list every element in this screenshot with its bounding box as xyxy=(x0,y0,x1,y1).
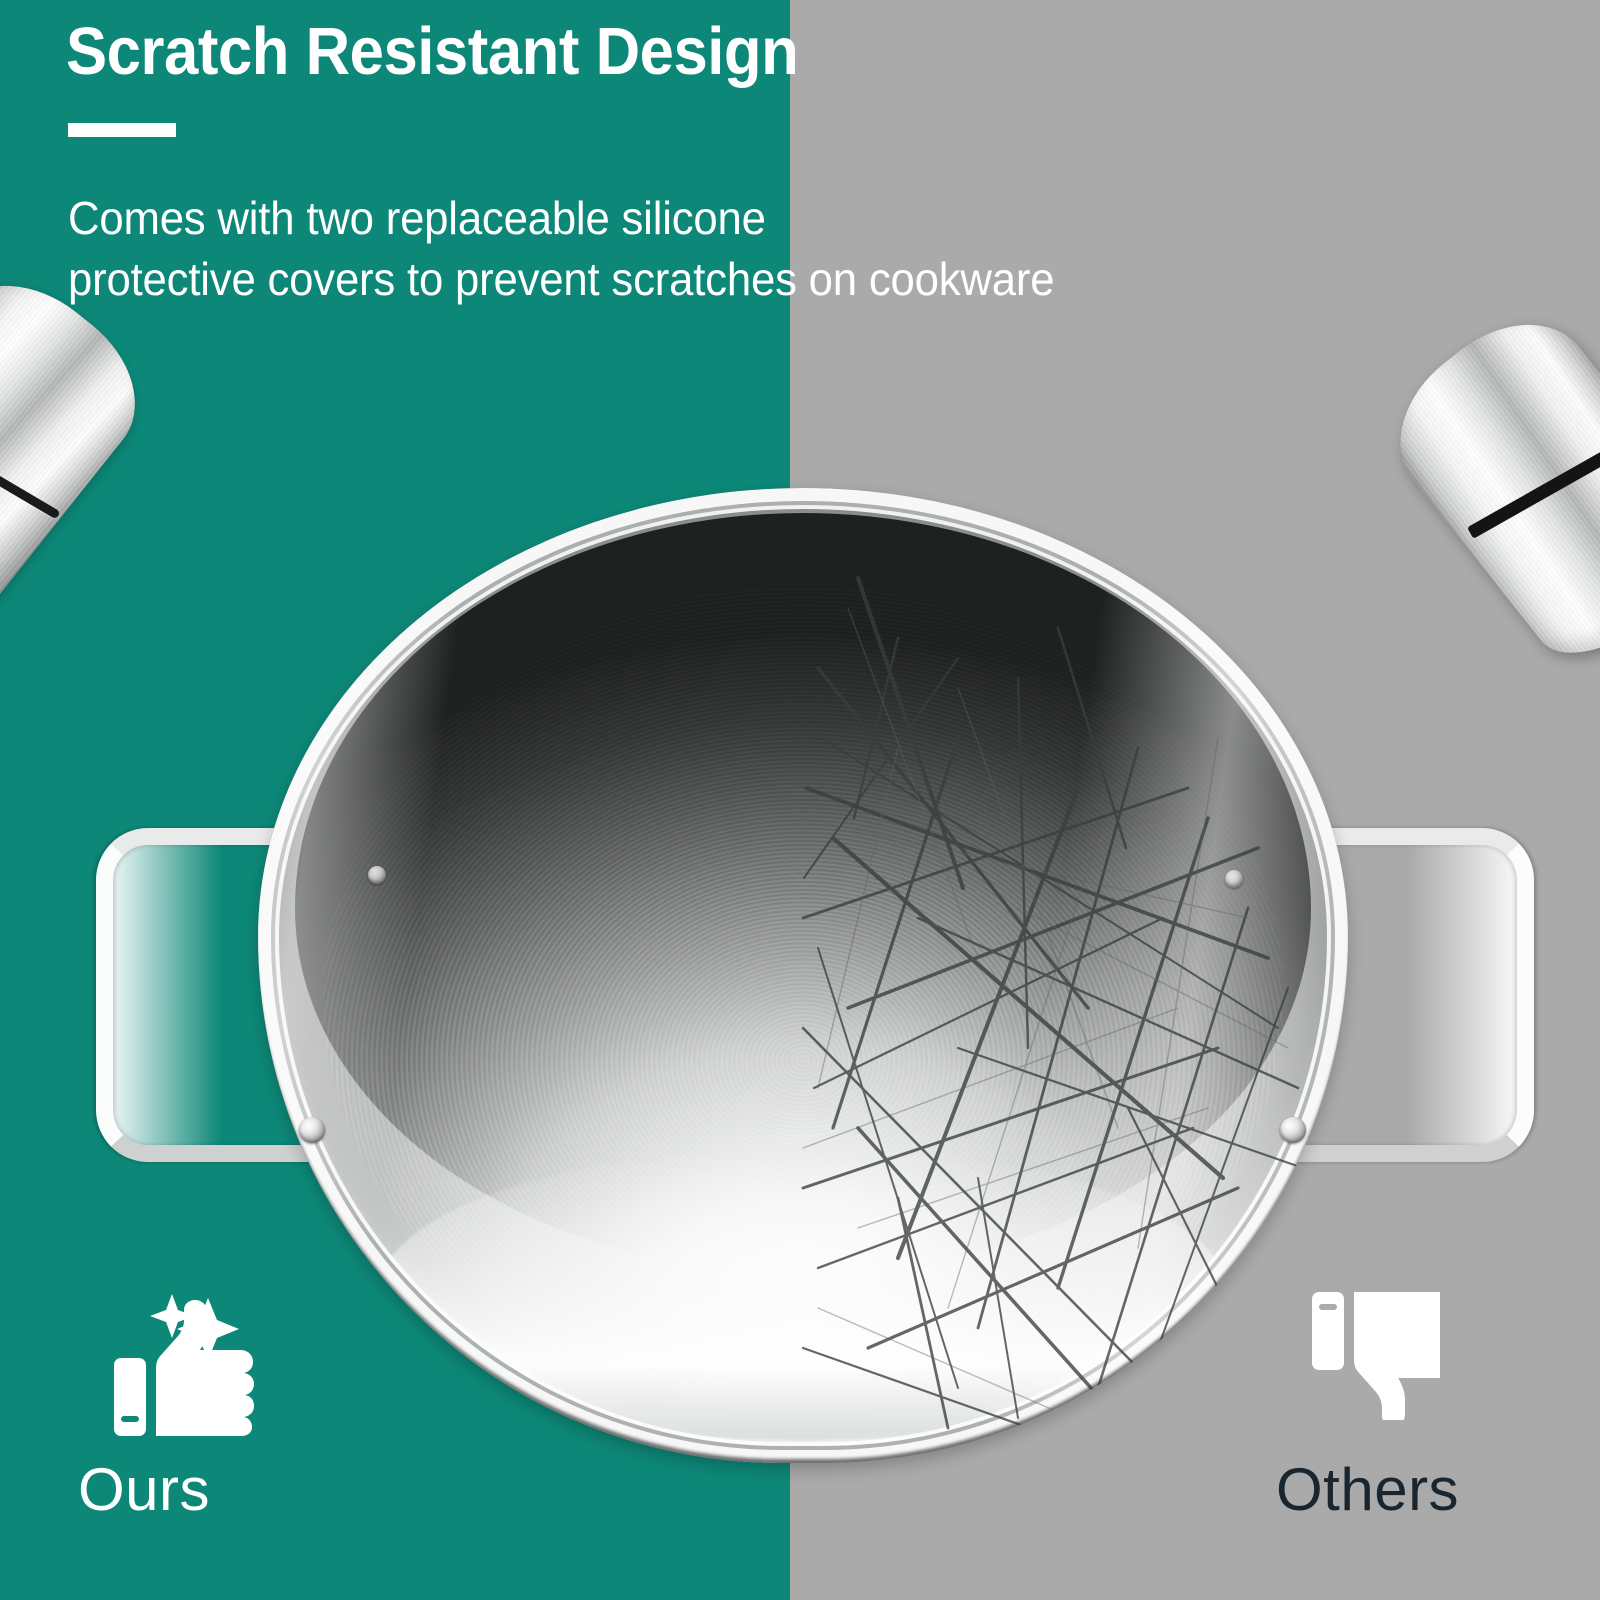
others-label: Others xyxy=(1276,1455,1459,1524)
others-badge xyxy=(1310,1290,1440,1420)
pot-body xyxy=(258,488,1348,1463)
ours-label: Ours xyxy=(78,1455,210,1524)
pot-rivet-left xyxy=(299,1117,325,1143)
thumbs-down-icon xyxy=(1310,1290,1440,1420)
product-feature-graphic: Scratch Resistant Design Comes with two … xyxy=(0,0,1600,1600)
pot-rivet-upper-left xyxy=(368,866,386,884)
pot-rivet-upper-right xyxy=(1225,870,1243,888)
thumbs-up-sparkle-icon xyxy=(112,1288,272,1438)
pot-rivet-right xyxy=(1280,1117,1306,1143)
pot-rim-highlight xyxy=(258,488,1348,1463)
ours-badge xyxy=(112,1288,272,1438)
